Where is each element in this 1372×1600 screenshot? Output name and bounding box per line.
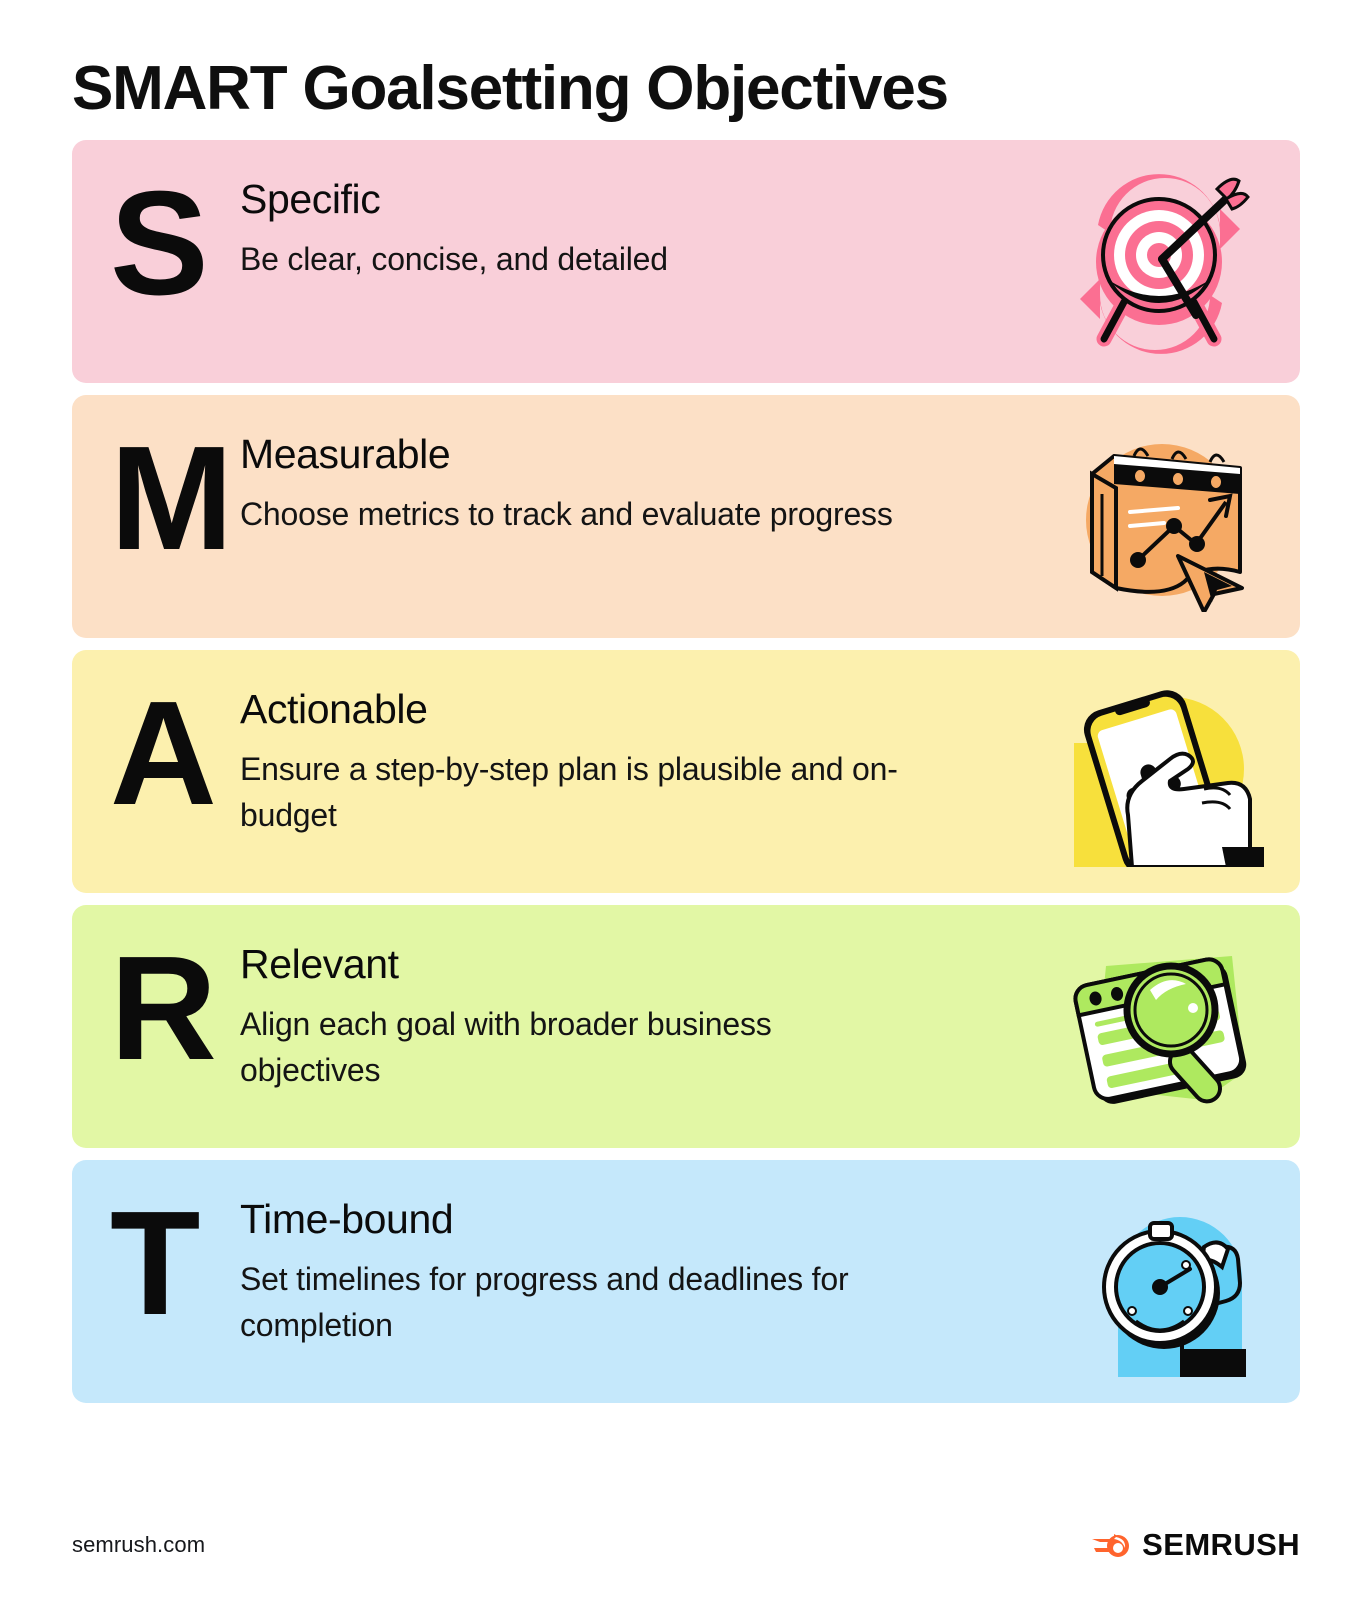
semrush-logo: SEMRUSH: [1092, 1527, 1300, 1563]
smart-row-specific: S Specific Be clear, concise, and detail…: [72, 140, 1300, 383]
smart-row-relevant: R Relevant Align each goal with broader …: [72, 905, 1300, 1148]
row-letter-t: T: [72, 1160, 240, 1338]
infographic-poster: SMART Goalsetting Objectives S Specific …: [0, 0, 1372, 1600]
row-description-time-bound: Set timelines for progress and deadlines…: [240, 1257, 900, 1348]
row-description-specific: Be clear, concise, and detailed: [240, 237, 900, 282]
row-letter-a: A: [72, 650, 240, 828]
calendar-chart-icon: [1054, 422, 1264, 612]
row-text-block: Actionable Ensure a step-by-step plan is…: [240, 650, 940, 838]
hand-tapping-phone-icon: [1054, 677, 1264, 867]
target-arrow-icon: [1054, 167, 1264, 357]
footer: semrush.com SEMRUSH: [72, 1490, 1300, 1600]
row-text-block: Time-bound Set timelines for progress an…: [240, 1160, 940, 1348]
smart-row-time-bound: T Time-bound Set timelines for progress …: [72, 1160, 1300, 1403]
semrush-wordmark: SEMRUSH: [1142, 1527, 1300, 1563]
row-heading-time-bound: Time-bound: [240, 1196, 924, 1243]
row-letter-s: S: [72, 140, 240, 318]
row-heading-relevant: Relevant: [240, 941, 924, 988]
smart-row-measurable: M Measurable Choose metrics to track and…: [72, 395, 1300, 638]
row-text-block: Measurable Choose metrics to track and e…: [240, 395, 940, 538]
row-description-actionable: Ensure a step-by-step plan is plausible …: [240, 747, 900, 838]
row-heading-measurable: Measurable: [240, 431, 924, 478]
row-description-measurable: Choose metrics to track and evaluate pro…: [240, 492, 900, 537]
row-text-block: Specific Be clear, concise, and detailed: [240, 140, 940, 283]
row-text-block: Relevant Align each goal with broader bu…: [240, 905, 940, 1093]
row-description-relevant: Align each goal with broader business ob…: [240, 1002, 900, 1093]
row-heading-specific: Specific: [240, 176, 924, 223]
browser-magnifier-icon: [1054, 932, 1264, 1122]
footer-url: semrush.com: [72, 1532, 205, 1558]
page-title: SMART Goalsetting Objectives: [72, 56, 1300, 121]
title-section: SMART Goalsetting Objectives: [72, 0, 1300, 140]
hand-stopwatch-icon: [1054, 1187, 1264, 1377]
smart-rows-list: S Specific Be clear, concise, and detail…: [72, 140, 1300, 1403]
row-letter-r: R: [72, 905, 240, 1083]
semrush-comet-icon: [1092, 1530, 1132, 1560]
row-letter-m: M: [72, 395, 240, 573]
row-heading-actionable: Actionable: [240, 686, 924, 733]
smart-row-actionable: A Actionable Ensure a step-by-step plan …: [72, 650, 1300, 893]
